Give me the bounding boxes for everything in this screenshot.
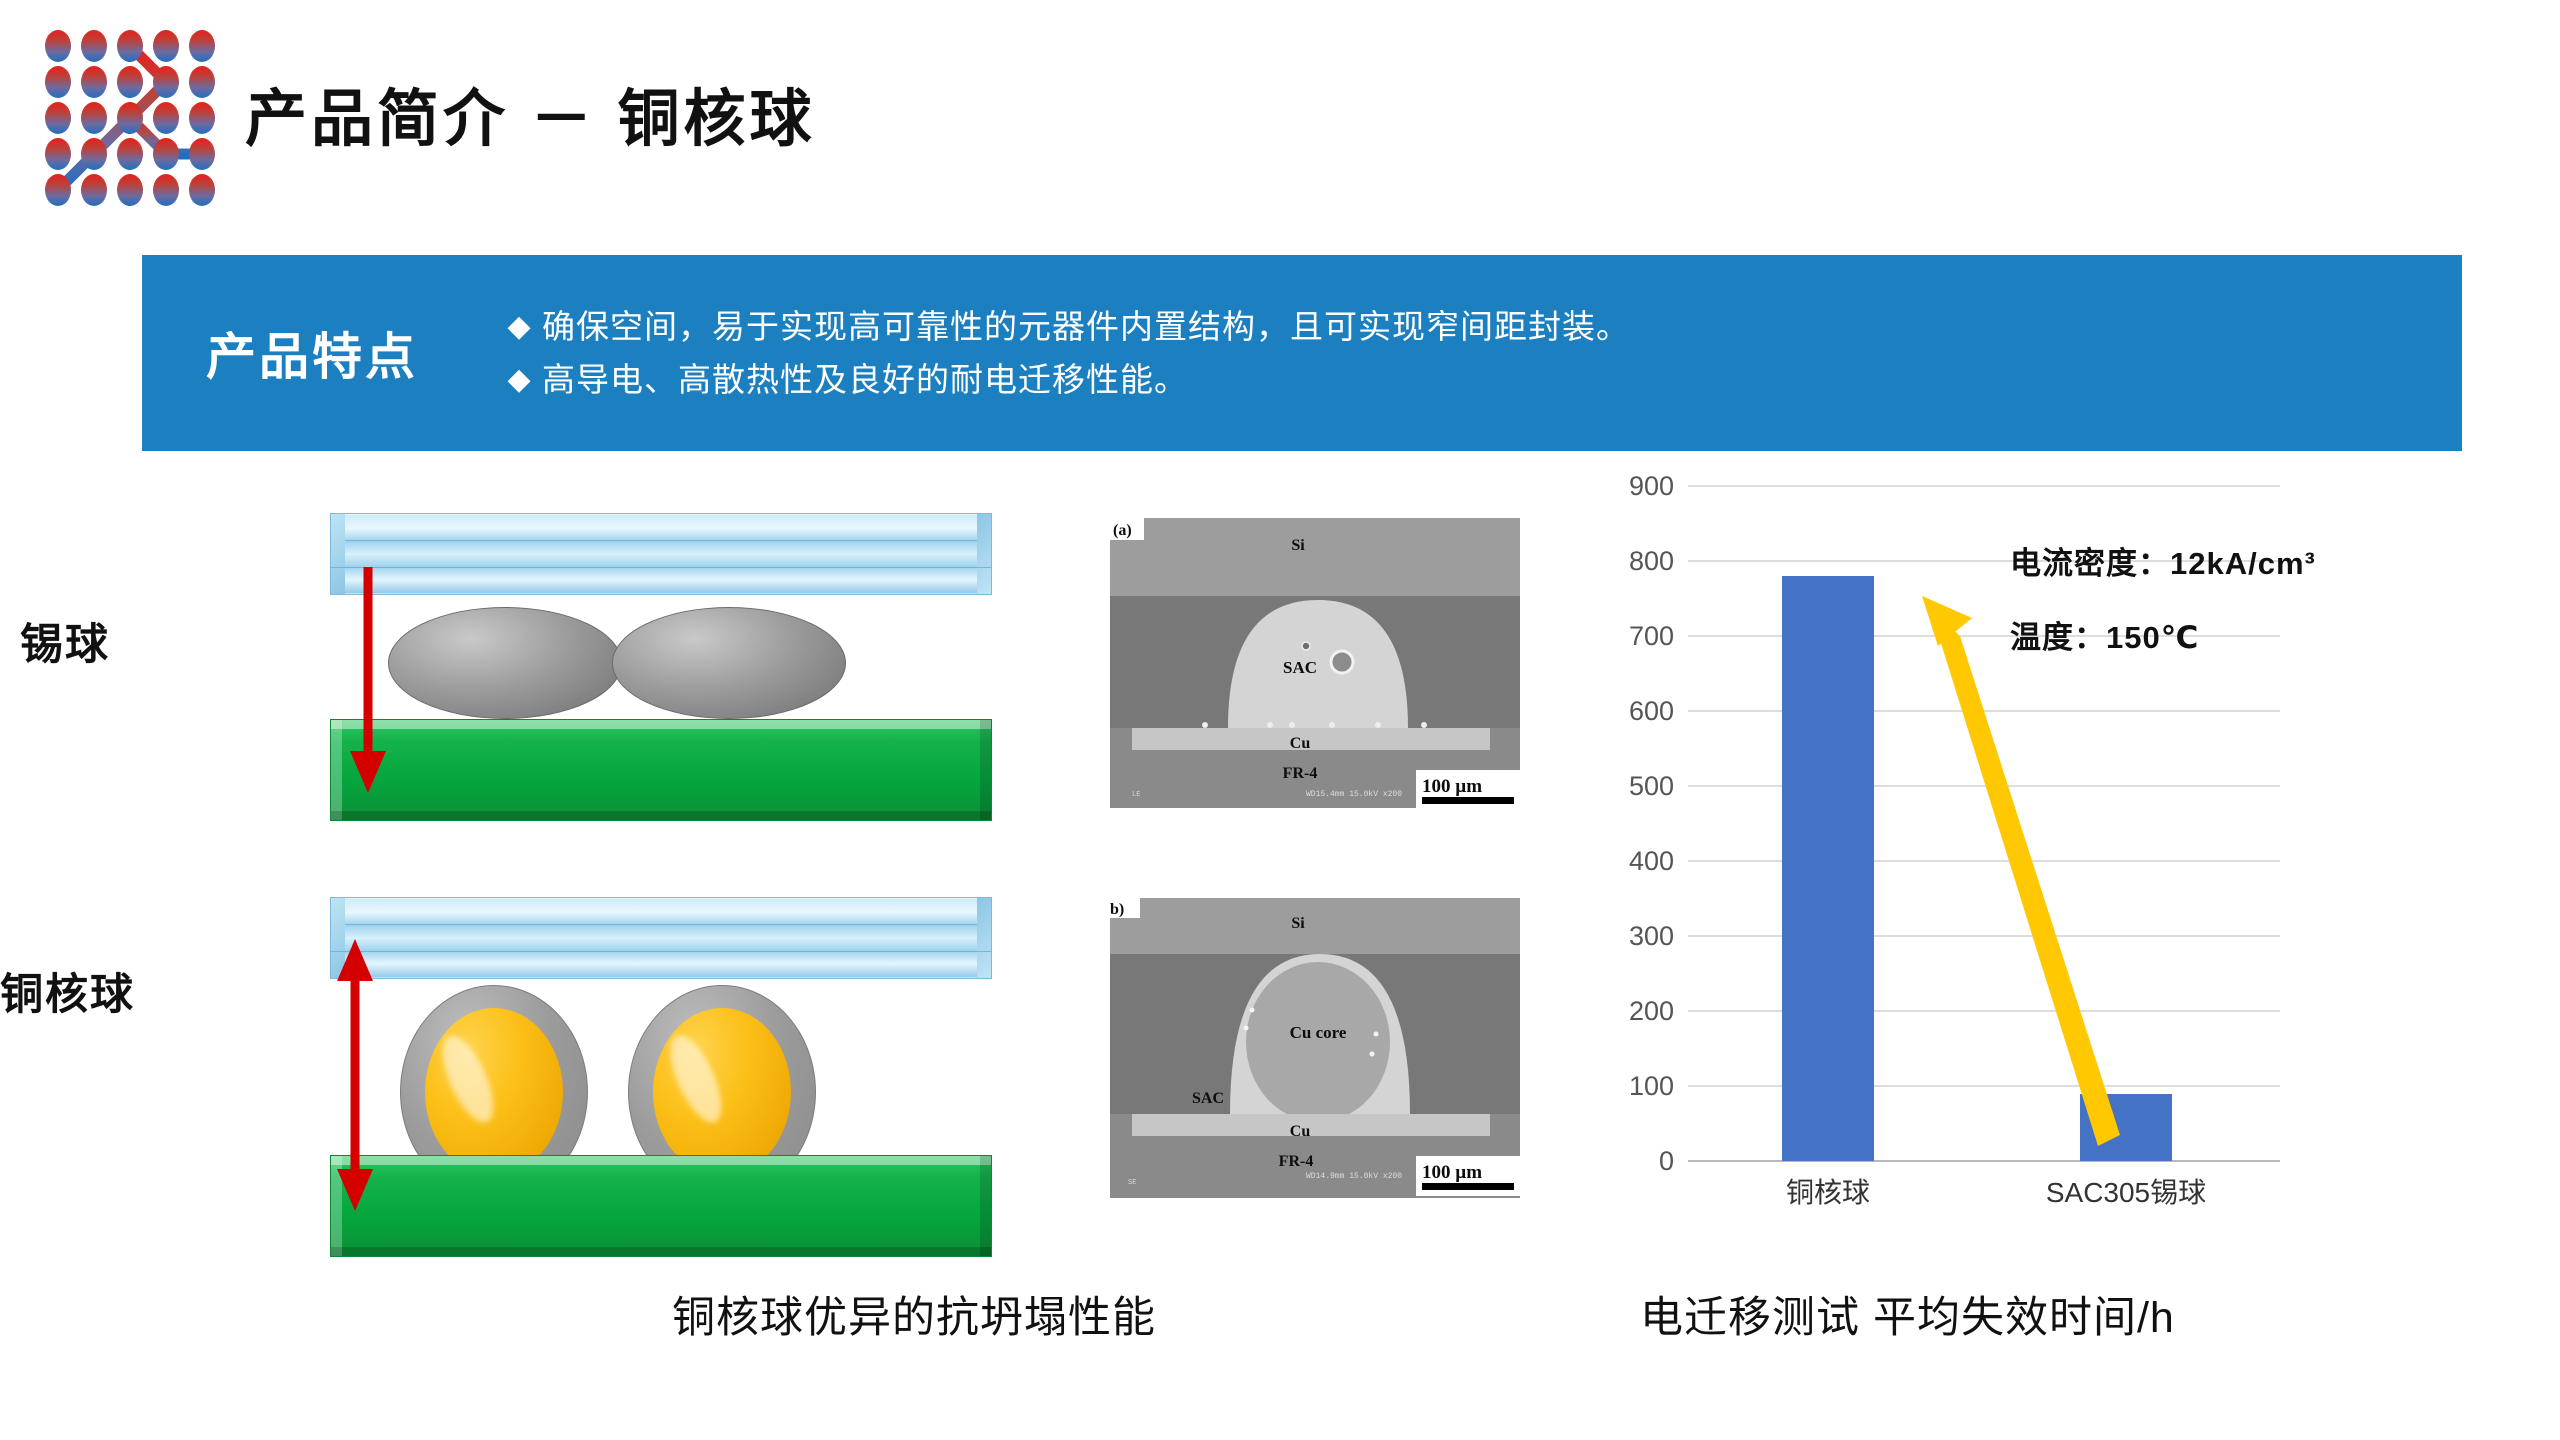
board-bevel-left [331,720,342,820]
chip-edge-left-icon [331,514,345,594]
board-bevel-left [331,1156,342,1256]
page-title: 产品简介 － 铜核球 [245,68,815,158]
sem-micrograph-a: (a) Si SAC Cu FR-4 LE WD15.4mm 15.0kV x2… [1110,518,1520,808]
chart-annotation-temperature: 温度：150℃ [2010,612,2199,657]
slide-root: 产品简介 － 铜核球 产品特点 ◆ 确保空间，易于实现高可靠性的元器件内置结构，… [0,0,2560,1440]
copper-core-right [653,1008,791,1176]
svg-text:500: 500 [1629,771,1674,801]
chart-x-axis-labels: 铜核球 SAC305锡球 [1786,1177,2206,1208]
collapse-resistance-schematic [100,495,1000,1255]
svg-text:100 µm: 100 µm [1422,1162,1482,1183]
svg-text:铜核球: 铜核球 [1786,1177,1870,1208]
list-item: ◆ 确保空间，易于实现高可靠性的元器件内置结构，且可实现窄间距封装。 [496,304,2462,350]
sem-micrograph-b: b) Si Cu core SAC Cu FR-4 SE WD14.9mm 15… [1110,898,1520,1198]
callout-arrow-icon [1922,596,2120,1146]
svg-text:Si: Si [1291,915,1305,932]
chip-edge-right-icon [977,514,991,594]
board-shadow [331,1247,991,1256]
svg-text:Si: Si [1291,537,1305,554]
chart-gridlines [1688,486,2280,1161]
slide-header: 产品简介 － 铜核球 [0,0,2560,230]
svg-text:Cu: Cu [1290,1123,1311,1140]
svg-text:SAC: SAC [1192,1090,1224,1107]
board-bevel-right [980,1156,991,1256]
svg-text:WD14.9mm 15.0kV x200: WD14.9mm 15.0kV x200 [1306,1172,1402,1181]
tin-ball-right [612,607,846,719]
caption-chart: 电迁移测试 平均失效时间/h [1640,1283,2175,1345]
chart-annotation-current-density: 电流密度：12kA/cm³ [2010,538,2316,583]
svg-text:LE: LE [1132,791,1140,799]
svg-text:900: 900 [1629,471,1674,501]
list-item: ◆ 高导电、高散热性及良好的耐电迁移性能。 [496,357,2462,403]
bullet-text-2: 高导电、高散热性及良好的耐电迁移性能。 [542,357,1188,403]
chip-edge-left-icon [331,898,345,978]
banner-heading: 产品特点 [142,317,482,389]
diamond-bullet-icon: ◆ [496,357,542,403]
product-features-banner: 产品特点 ◆ 确保空间，易于实现高可靠性的元器件内置结构，且可实现窄间距封装。 … [142,255,2462,451]
board-bevel-right [980,720,991,820]
svg-text:Cu: Cu [1290,735,1311,752]
svg-text:400: 400 [1629,846,1674,876]
svg-text:800: 800 [1629,546,1674,576]
svg-text:100: 100 [1629,1071,1674,1101]
chip-edge-right-icon [977,898,991,978]
board-highlight [331,720,991,729]
svg-text:200: 200 [1629,996,1674,1026]
chart-y-axis-ticks: 900 800 700 600 500 400 300 200 100 0 [1629,471,1674,1176]
caption-schematic: 铜核球优异的抗坍塌性能 [672,1283,1156,1345]
schematic-row-label-tin: 锡球 [20,610,110,672]
svg-text:100 µm: 100 µm [1422,776,1482,797]
bar-copper-core [1782,576,1874,1161]
chip-layer-bottom-copper [330,897,992,979]
svg-text:0: 0 [1659,1146,1674,1176]
svg-text:Cu core: Cu core [1290,1023,1347,1042]
svg-text:FR-4: FR-4 [1279,1153,1314,1170]
svg-text:SE: SE [1128,1179,1136,1187]
board-shadow [331,811,991,820]
svg-text:WD15.4mm 15.0kV x200: WD15.4mm 15.0kV x200 [1306,790,1402,799]
bullet-text-1: 确保空间，易于实现高可靠性的元器件内置结构，且可实现窄间距封装。 [542,304,1630,350]
svg-text:SAC: SAC [1283,658,1317,677]
svg-text:700: 700 [1629,621,1674,651]
svg-text:b): b) [1110,901,1124,918]
svg-text:600: 600 [1629,696,1674,726]
company-dot-matrix-logo [30,18,220,208]
pcb-board-top [330,719,992,821]
pcb-board-bottom [330,1155,992,1257]
diamond-bullet-icon: ◆ [496,304,542,350]
svg-text:(a): (a) [1113,522,1132,539]
svg-text:FR-4: FR-4 [1283,765,1318,782]
chart-bars [1782,576,2172,1161]
svg-text:300: 300 [1629,921,1674,951]
banner-bullet-list: ◆ 确保空间，易于实现高可靠性的元器件内置结构，且可实现窄间距封装。 ◆ 高导电… [482,297,2462,410]
svg-text:SAC305锡球: SAC305锡球 [2046,1177,2206,1208]
copper-core-left [425,1008,563,1176]
chip-layer-top-tin [330,513,992,595]
tin-ball-left [388,607,622,719]
board-highlight [331,1156,991,1165]
